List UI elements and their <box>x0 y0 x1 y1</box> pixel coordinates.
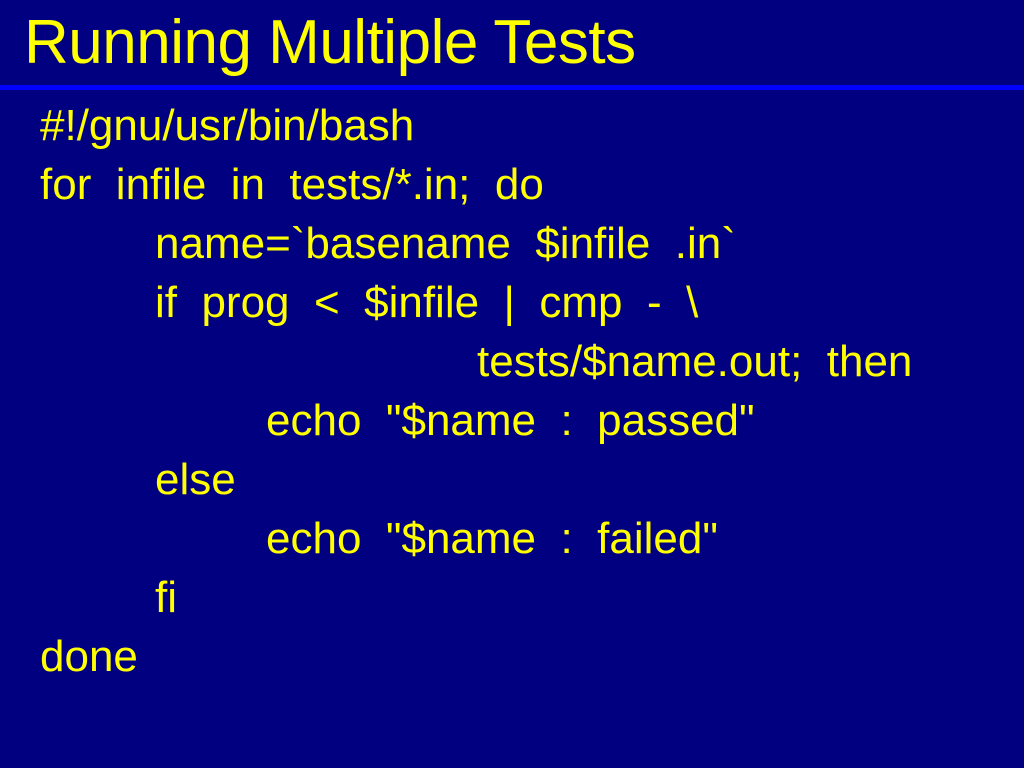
code-line: name=`basename $infile .in` <box>0 214 1024 273</box>
code-line: echo "$name : passed" <box>0 391 1024 450</box>
code-line: done <box>0 627 1024 686</box>
code-line: for infile in tests/*.in; do <box>0 155 1024 214</box>
title-divider <box>0 85 1024 90</box>
code-line: #!/gnu/usr/bin/bash <box>0 96 1024 155</box>
code-line: echo "$name : failed" <box>0 509 1024 568</box>
code-block: #!/gnu/usr/bin/bashfor infile in tests/*… <box>0 96 1024 686</box>
code-line: fi <box>0 568 1024 627</box>
code-line: tests/$name.out; then <box>0 332 1024 391</box>
code-line: if prog < $infile | cmp - \ <box>0 273 1024 332</box>
page-title: Running Multiple Tests <box>24 2 636 84</box>
slide: Running Multiple Tests #!/gnu/usr/bin/ba… <box>0 0 1024 768</box>
code-line: else <box>0 450 1024 509</box>
